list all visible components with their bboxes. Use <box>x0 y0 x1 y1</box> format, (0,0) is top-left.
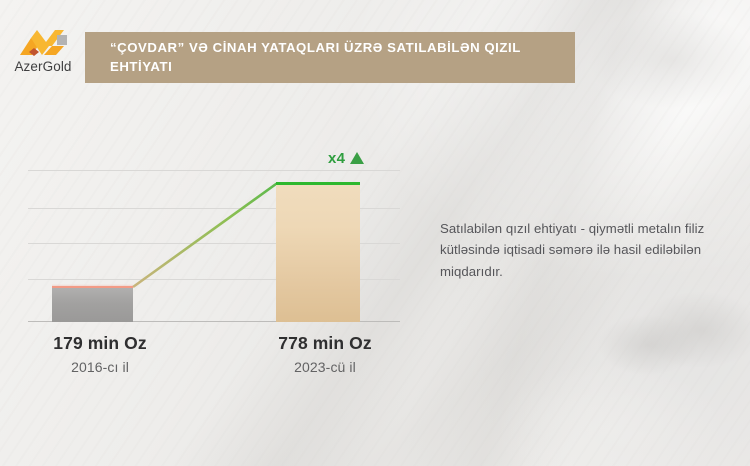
bar-label-group-2016: 179 min Oz 2016-cı il <box>25 333 175 375</box>
logo-svg <box>18 28 68 56</box>
bar-year-2016: 2016-cı il <box>25 359 175 375</box>
bar-value-2023: 778 min Oz <box>250 333 400 354</box>
bar-2023 <box>276 182 360 322</box>
page-title: “ÇOVDAR” VƏ CİNAH YATAQLARI ÜZRƏ SATILAB… <box>85 39 575 76</box>
title-banner: “ÇOVDAR” VƏ CİNAH YATAQLARI ÜZRƏ SATILAB… <box>85 32 575 83</box>
azergold-logo: AzerGold <box>6 28 80 84</box>
multiplier-label: x4 <box>328 150 345 167</box>
bar-chart: x4 <box>28 150 400 380</box>
bar-label-group-2023: 778 min Oz 2023-cü il <box>250 333 400 375</box>
bar-2016 <box>52 286 133 322</box>
brand-name: AzerGold <box>6 59 80 74</box>
bar-year-2023: 2023-cü il <box>250 359 400 375</box>
multiplier-annotation: x4 <box>328 150 364 167</box>
azergold-chevron-logo-icon <box>18 28 68 56</box>
plot-area <box>28 170 400 322</box>
infographic-canvas: AzerGold “ÇOVDAR” VƏ CİNAH YATAQLARI ÜZR… <box>0 0 750 466</box>
description-text: Satılabilən qızıl ehtiyatı - qiymətli me… <box>440 218 740 282</box>
up-triangle-icon <box>350 152 364 164</box>
bar-value-2016: 179 min Oz <box>25 333 175 354</box>
